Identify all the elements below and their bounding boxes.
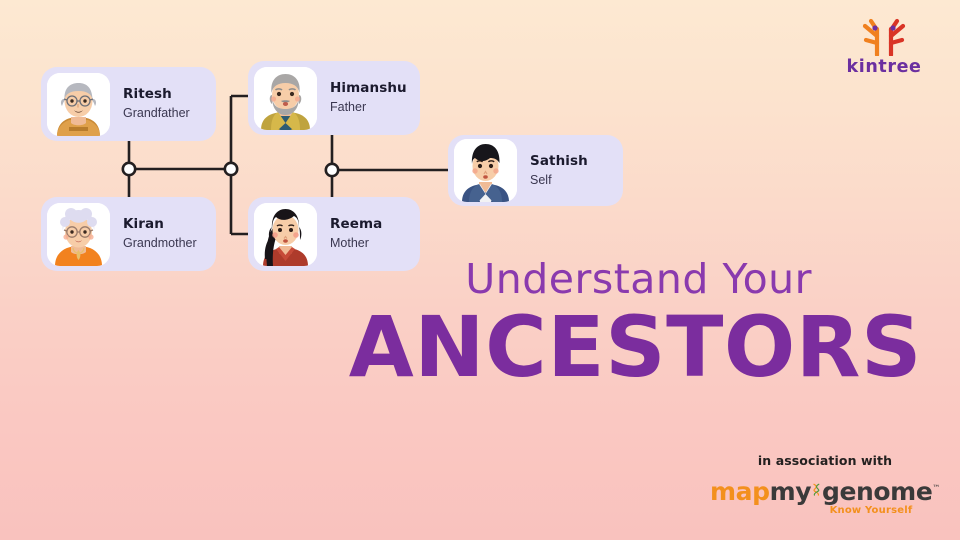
kintree-brand: kintree (828, 16, 940, 77)
person-name: Ritesh (123, 86, 190, 103)
kintree-tree-people-icon (853, 16, 915, 56)
person-name: Reema (330, 216, 382, 233)
avatar-grandmother-white-hair-glasses-icon (47, 203, 110, 266)
person-meta: Ritesh Grandfather (110, 86, 200, 122)
person-name: Kiran (123, 216, 197, 233)
headline-line-2: ANCESTORS (0, 305, 942, 391)
dna-helix-icon (812, 476, 821, 503)
trademark-symbol: ™ (932, 484, 940, 493)
person-relation: Grandfather (123, 106, 190, 122)
person-card-himanshu[interactable]: Himanshu Father (248, 61, 420, 135)
kintree-wordmark: kintree (828, 59, 940, 77)
mapmygenome-logo: map my genome™ (710, 476, 940, 504)
person-card-ritesh[interactable]: Ritesh Grandfather (41, 67, 216, 141)
person-meta: Himanshu Father (317, 80, 417, 116)
headline: Understand Your ANCESTORS (0, 258, 942, 391)
avatar-mother-long-black-hair-icon (254, 203, 317, 266)
partner-block: in association with map my genome™ Know … (710, 453, 940, 516)
connector-node (123, 163, 135, 175)
person-relation: Grandmother (123, 236, 197, 252)
person-meta: Sathish Self (517, 153, 598, 189)
mapmygenome-map-text: map (710, 479, 770, 504)
association-label: in association with (710, 453, 940, 468)
person-meta: Reema Mother (317, 216, 392, 252)
person-card-sathish[interactable]: Sathish Self (448, 135, 623, 206)
connector-node (326, 164, 338, 176)
person-name: Sathish (530, 153, 588, 170)
mapmygenome-my-text: my (770, 479, 812, 504)
avatar-grandfather-bald-glasses-icon (47, 73, 110, 136)
person-relation: Self (530, 173, 588, 189)
connector-node (225, 163, 237, 175)
person-relation: Mother (330, 236, 382, 252)
person-name: Himanshu (330, 80, 407, 97)
person-meta: Kiran Grandmother (110, 216, 207, 252)
poster-canvas: kintree (0, 0, 960, 540)
avatar-self-young-man-navy-jacket-icon (454, 139, 517, 202)
mapmygenome-tagline: Know Yourself (710, 505, 940, 516)
headline-line-1: Understand Your (0, 258, 942, 301)
mapmygenome-genome-text: genome™ (822, 479, 940, 504)
avatar-father-grey-beard-icon (254, 67, 317, 130)
person-relation: Father (330, 100, 407, 116)
